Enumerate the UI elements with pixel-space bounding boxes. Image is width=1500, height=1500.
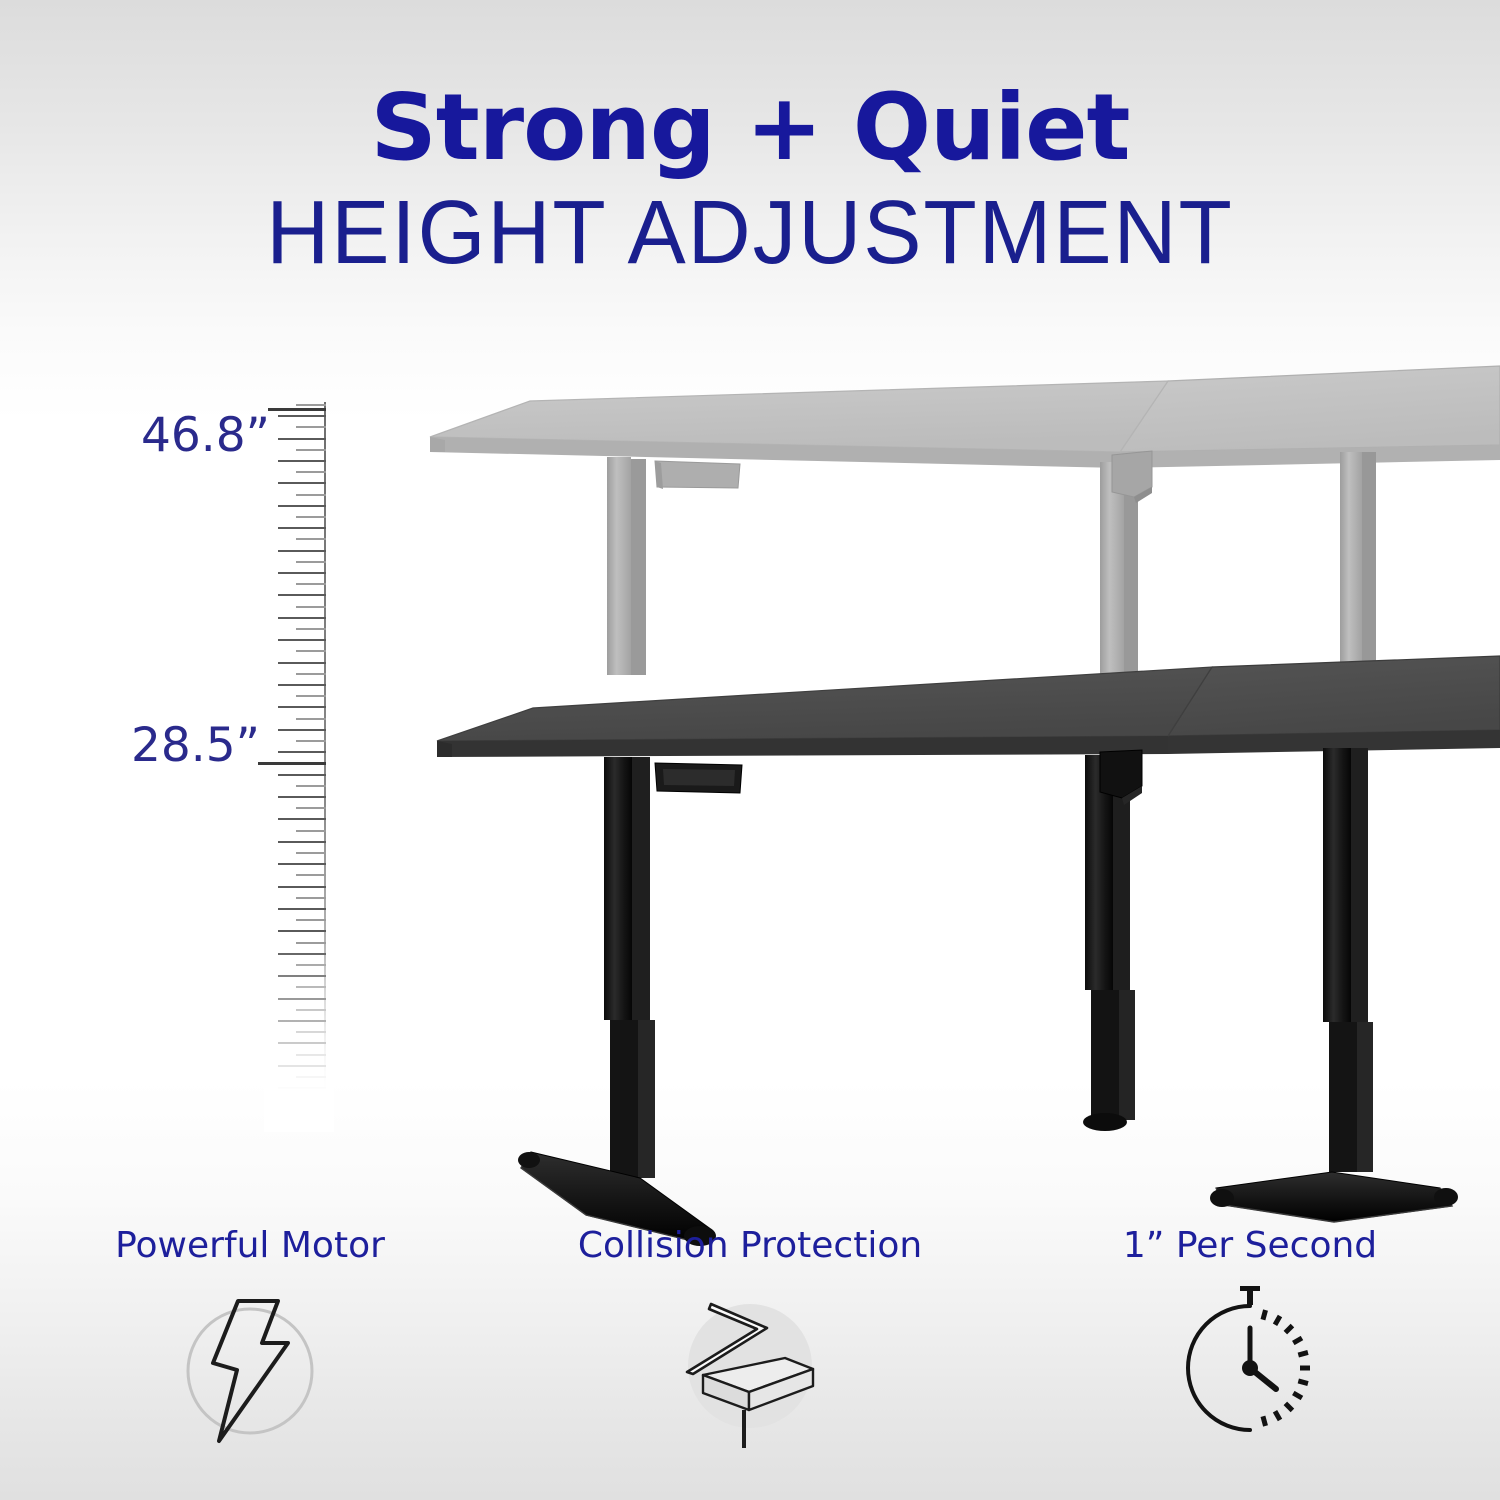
ruler-tick (278, 460, 326, 462)
ruler-tick (296, 494, 326, 496)
ruler-tick (296, 1009, 326, 1011)
ruler-tick (296, 964, 326, 966)
ruler-tick (278, 438, 326, 440)
feature-collision-protection: Collision Protection (500, 1228, 1000, 1500)
lightning-bolt-icon (145, 1276, 355, 1461)
feature-label-collision-protection: Collision Protection (578, 1228, 922, 1264)
ruler-tick (278, 953, 326, 955)
feature-powerful-motor: Powerful Motor (0, 1228, 500, 1500)
min-height-label: 28.5” (110, 718, 260, 773)
ruler-tick (278, 684, 326, 686)
ruler-tick (296, 740, 326, 742)
ruler-tick (296, 1054, 326, 1056)
ruler-tick (296, 874, 326, 876)
lowered-desk (437, 656, 1500, 1246)
ruler-tick (296, 583, 326, 585)
ruler-tick (296, 1121, 326, 1123)
ruler-tick (278, 796, 326, 798)
ruler-tick (296, 628, 326, 630)
ruler-tick (278, 886, 326, 888)
ruler-tick (278, 415, 326, 417)
infographic-canvas: Strong + Quiet HEIGHT ADJUSTMENT (0, 0, 1500, 1500)
ruler-tick (296, 1098, 326, 1100)
ruler-tick (278, 841, 326, 843)
ruler-tick (296, 673, 326, 675)
ruler-tick (296, 695, 326, 697)
ruler-tick (296, 785, 326, 787)
stopwatch-icon (1145, 1276, 1355, 1461)
ruler-tick (296, 1031, 326, 1033)
ruler-tick (296, 852, 326, 854)
ruler-tick (278, 729, 326, 731)
ruler-tick (296, 1076, 326, 1078)
corner-leg (1083, 750, 1142, 1131)
max-height-label: 46.8” (120, 408, 270, 463)
ruler-tick (278, 662, 326, 664)
ruler-tick (296, 561, 326, 563)
ruler-tick (278, 975, 326, 977)
ruler-tick (278, 527, 326, 529)
ruler-tick (296, 471, 326, 473)
ruler-tick (278, 617, 326, 619)
ruler-tick (278, 550, 326, 552)
ruler-tick (296, 919, 326, 921)
height-measurement-scale: 46.8” 28.5” (0, 0, 420, 1180)
feature-row: Powerful Motor Collision Protection (0, 1228, 1500, 1500)
ruler-tick (278, 1065, 326, 1067)
ruler-tick (278, 706, 326, 708)
raised-desk (430, 366, 1500, 677)
height-ruler (268, 402, 326, 1132)
feature-label-powerful-motor: Powerful Motor (115, 1228, 385, 1264)
ruler-tick (296, 807, 326, 809)
ruler-tick (296, 449, 326, 451)
ruler-tick (278, 930, 326, 932)
min-height-marker (258, 762, 326, 765)
ruler-tick (278, 482, 326, 484)
ruler-tick (296, 606, 326, 608)
ruler-tick (278, 639, 326, 641)
ruler-tick (296, 897, 326, 899)
ruler-tick (296, 986, 326, 988)
ruler-tick (296, 650, 326, 652)
ruler-tick (278, 505, 326, 507)
ruler-tick (296, 516, 326, 518)
max-height-marker (268, 408, 326, 411)
ruler-tick (278, 1020, 326, 1022)
ruler-tick (278, 1087, 326, 1089)
left-leg (518, 757, 716, 1246)
ruler-tick (296, 538, 326, 540)
ruler-tick (296, 718, 326, 720)
ruler-tick (278, 572, 326, 574)
feature-label-speed: 1” Per Second (1123, 1228, 1377, 1264)
ruler-spine (324, 402, 326, 1132)
ruler-tick (278, 594, 326, 596)
ruler-tick (278, 863, 326, 865)
ruler-tick (278, 751, 326, 753)
ruler-tick (278, 998, 326, 1000)
ruler-tick (296, 404, 326, 406)
ruler-tick (278, 1110, 326, 1112)
ruler-tick (278, 1042, 326, 1044)
ruler-tick (296, 426, 326, 428)
ruler-tick (278, 818, 326, 820)
ruler-tick (296, 830, 326, 832)
desk-collision-icon (645, 1276, 855, 1461)
feature-speed: 1” Per Second (1000, 1228, 1500, 1500)
ruler-tick (278, 908, 326, 910)
ruler-tick (296, 942, 326, 944)
right-leg (1210, 748, 1458, 1222)
ruler-tick (278, 774, 326, 776)
